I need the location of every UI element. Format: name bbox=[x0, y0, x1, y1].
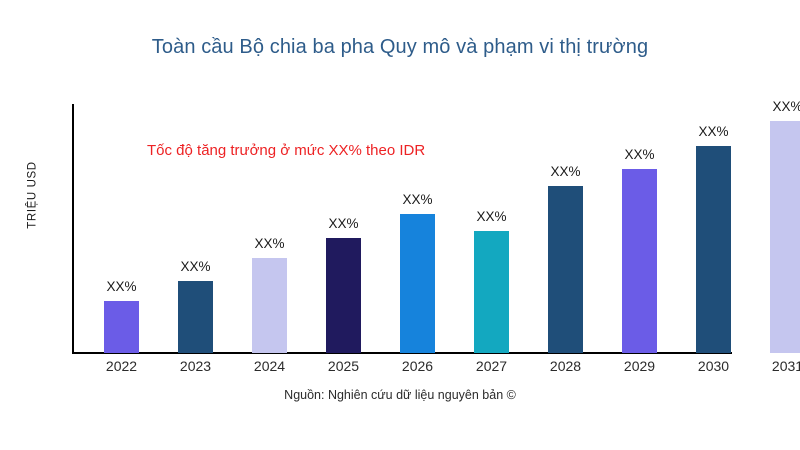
bar-value-label-2031: XX% bbox=[753, 99, 800, 114]
x-tick-label-2029: 2029 bbox=[603, 358, 677, 374]
x-tick-label-2025: 2025 bbox=[307, 358, 381, 374]
bar-2025 bbox=[326, 238, 361, 353]
bar-2029 bbox=[622, 169, 657, 353]
bar-value-label-2026: XX% bbox=[383, 192, 453, 207]
bar-value-label-2023: XX% bbox=[161, 259, 231, 274]
bar-value-label-2028: XX% bbox=[531, 164, 601, 179]
bar-value-label-2030: XX% bbox=[679, 124, 749, 139]
source-note: Nguồn: Nghiên cứu dữ liệu nguyên bản © bbox=[0, 388, 800, 402]
bar-2023 bbox=[178, 281, 213, 353]
x-tick-label-2031: 2031 bbox=[751, 358, 800, 374]
bar-2022 bbox=[104, 301, 139, 353]
plot-area: XX%2022XX%2023XX%2024XX%2025XX%2026XX%20… bbox=[0, 0, 800, 450]
chart-container: Toàn cầu Bộ chia ba pha Quy mô và phạm v… bbox=[0, 0, 800, 450]
bar-value-label-2029: XX% bbox=[605, 147, 675, 162]
bar-value-label-2024: XX% bbox=[235, 236, 305, 251]
bar-2024 bbox=[252, 258, 287, 353]
bar-2028 bbox=[548, 186, 583, 353]
bar-2027 bbox=[474, 231, 509, 353]
x-tick-label-2023: 2023 bbox=[159, 358, 233, 374]
bar-2031 bbox=[770, 121, 800, 353]
x-tick-label-2030: 2030 bbox=[677, 358, 751, 374]
x-tick-label-2026: 2026 bbox=[381, 358, 455, 374]
bar-value-label-2027: XX% bbox=[457, 209, 527, 224]
x-tick-label-2022: 2022 bbox=[85, 358, 159, 374]
bar-2026 bbox=[400, 214, 435, 353]
bar-value-label-2022: XX% bbox=[87, 279, 157, 294]
x-tick-label-2028: 2028 bbox=[529, 358, 603, 374]
x-tick-label-2027: 2027 bbox=[455, 358, 529, 374]
bar-value-label-2025: XX% bbox=[309, 216, 379, 231]
bar-2030 bbox=[696, 146, 731, 353]
x-tick-label-2024: 2024 bbox=[233, 358, 307, 374]
